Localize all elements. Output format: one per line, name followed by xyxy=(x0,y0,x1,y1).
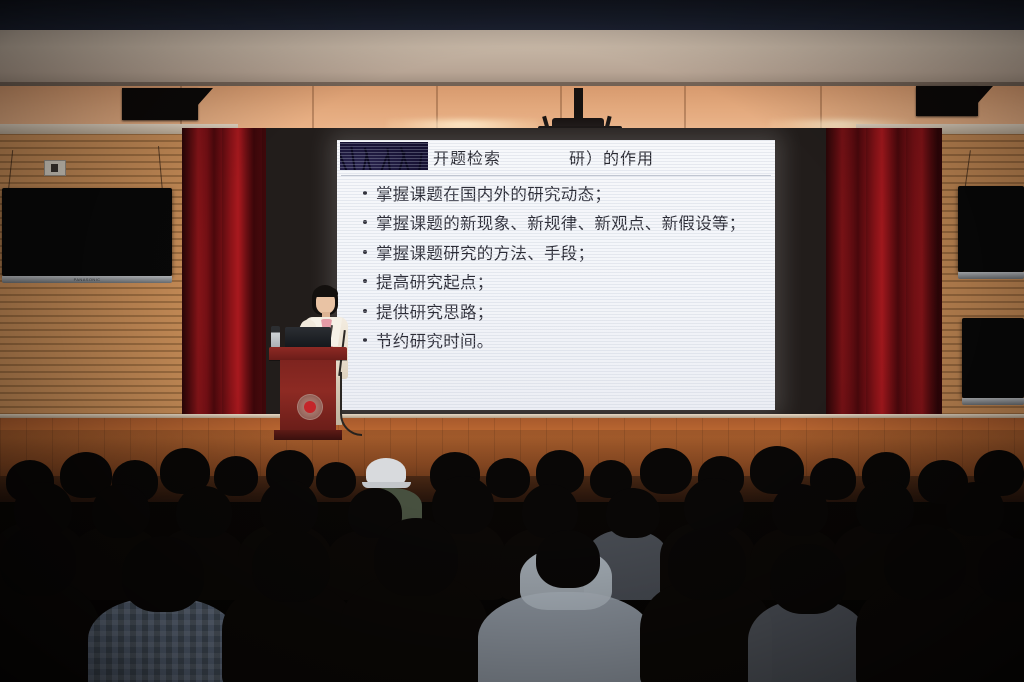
presenter-fringe xyxy=(313,288,338,297)
slide-bullet-list: 掌握课题在国内外的研究动态； 掌握课题的新现象、新规律、新观点、新假设等； 掌握… xyxy=(363,184,765,361)
right-wall-monitor-lower xyxy=(962,318,1024,398)
slide-bullet-text: 提供研究思路； xyxy=(376,302,765,323)
podium-emblem-icon xyxy=(297,394,323,420)
curtain-shading xyxy=(182,128,266,428)
slide-bullet-text: 掌握课题在国内外的研究动态； xyxy=(376,184,765,205)
slide-bullet: 提高研究起点； xyxy=(363,272,765,293)
monitor-brand-label: PANASONIC xyxy=(74,277,101,282)
slide-bullet: 节约研究时间。 xyxy=(363,331,765,352)
auditorium-photo: PANASONIC 开题 xyxy=(0,0,1024,682)
slide-bullet-text: 提高研究起点； xyxy=(376,272,765,293)
podium-top xyxy=(269,347,347,360)
audience-darkness-gradient xyxy=(0,430,1024,682)
slide-bullet: 掌握课题的新现象、新规律、新观点、新假设等； xyxy=(363,213,765,234)
ceiling-speaker-icon xyxy=(122,88,198,120)
slide-bullet: 掌握课题研究的方法、手段； xyxy=(363,243,765,264)
left-stage-curtain xyxy=(182,128,266,428)
slide-bullet-text: 掌握课题研究的方法、手段； xyxy=(376,243,765,264)
slide-bullet: 提供研究思路； xyxy=(363,302,765,323)
ceiling-speaker-icon xyxy=(916,86,978,116)
water-bottle xyxy=(271,326,280,348)
ceiling-dark-band xyxy=(0,0,1024,32)
microphone-cable xyxy=(340,372,362,436)
bullet-dot-icon xyxy=(363,250,367,254)
bullet-dot-icon xyxy=(363,191,367,195)
slide-title-prefix: 开题检索 xyxy=(433,145,501,169)
ceiling-beam xyxy=(0,30,1024,86)
right-stage-curtain xyxy=(826,128,942,438)
curtain-shading xyxy=(826,128,942,438)
slide-title: 开题检索（文献调研）的作用 xyxy=(433,142,771,172)
wall-outlet-plate-icon xyxy=(44,160,66,176)
presentation-slide: 开题检索（文献调研）的作用 掌握课题在国内外的研究动态； 掌握课题的新现象、新规… xyxy=(337,140,775,410)
projection-screen: 开题检索（文献调研）的作用 掌握课题在国内外的研究动态； 掌握课题的新现象、新规… xyxy=(337,140,775,410)
left-wall-monitor: PANASONIC xyxy=(2,188,172,276)
slide-title-divider xyxy=(341,175,771,176)
monitor-bezel xyxy=(958,272,1024,279)
bullet-dot-icon xyxy=(363,279,367,283)
monitor-bezel xyxy=(962,398,1024,405)
bullet-dot-icon xyxy=(363,220,367,224)
right-wall-monitor-upper xyxy=(958,186,1024,272)
slide-title-obscured: （文献调 xyxy=(501,145,569,169)
slide-title-suffix: 研）的作用 xyxy=(569,145,654,169)
slide-bullet-text: 节约研究时间。 xyxy=(376,331,765,352)
podium-laptop xyxy=(285,327,331,348)
slide-bullet: 掌握课题在国内外的研究动态； xyxy=(363,184,765,205)
slide-bullet-text: 掌握课题的新现象、新规律、新观点、新假设等； xyxy=(376,213,765,234)
slide-decor-image xyxy=(340,142,428,170)
